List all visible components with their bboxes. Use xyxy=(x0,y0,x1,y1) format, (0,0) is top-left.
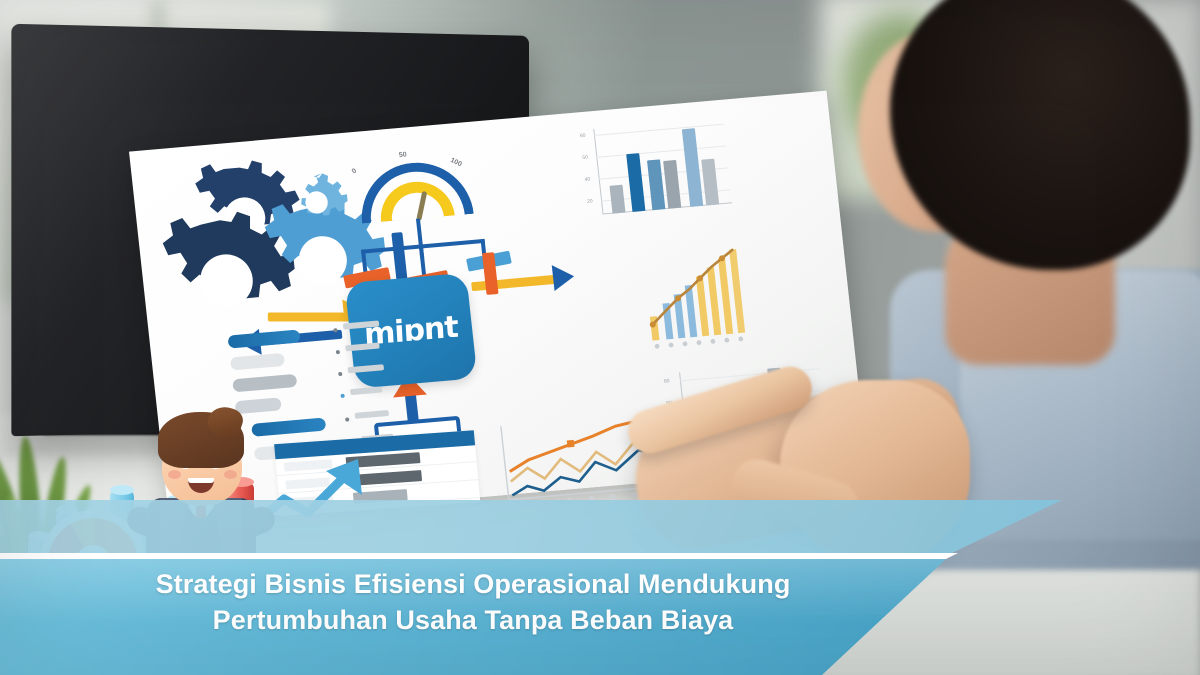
gauge-tick-100: 100 xyxy=(449,157,463,168)
gauge-tick-0: 0 xyxy=(351,168,358,176)
mascot-cheek-left xyxy=(168,470,181,479)
banner-title-line-1: Strategi Bisnis Efisiensi Operasional Me… xyxy=(156,569,791,599)
arrow-yellow-bar xyxy=(268,313,350,322)
banner-title: Strategi Bisnis Efisiensi Operasional Me… xyxy=(0,566,946,638)
gauge-tick-50: 50 xyxy=(399,151,408,159)
gear-tiny-blue-icon xyxy=(282,169,350,236)
title-banner: Strategi Bisnis Efisiensi Operasional Me… xyxy=(0,500,1200,675)
banner-white-rule xyxy=(0,553,1200,559)
screenshot-root: 0 50 100 xyxy=(0,0,1200,675)
banner-top-band xyxy=(0,500,1200,553)
banner-title-line-2: Pertumbuhan Usaha Tanpa Beban Biaya xyxy=(0,602,946,638)
gauge-tree-diagram: 0 50 100 xyxy=(345,139,539,294)
arrow-right-head xyxy=(552,263,576,291)
pointing-hand xyxy=(690,190,1110,490)
tree-branch-center xyxy=(419,244,426,276)
mascot-cheek-right xyxy=(224,470,237,479)
